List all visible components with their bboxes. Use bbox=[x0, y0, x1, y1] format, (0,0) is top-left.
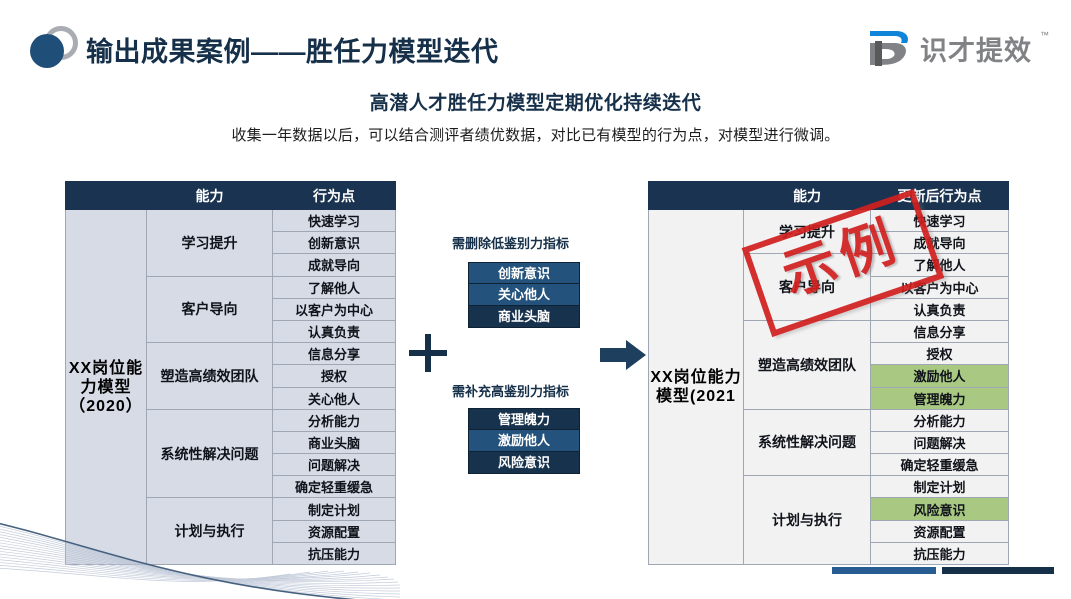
section-subtitle: 高潜人才胜任力模型定期优化持续迭代 bbox=[0, 88, 1071, 115]
remove-indicators-list: 创新意识关心他人商业头脑 bbox=[468, 262, 580, 328]
d-mark-svg bbox=[866, 28, 912, 68]
capability-cell: 系统性解决问题 bbox=[147, 409, 273, 498]
behavior-cell: 分析能力 bbox=[273, 409, 396, 431]
behavior-cell: 授权 bbox=[871, 343, 1009, 365]
capability-cell: 塑造高绩效团队 bbox=[744, 320, 871, 409]
behavior-cell: 认真负责 bbox=[871, 298, 1009, 320]
table-2021-header-model bbox=[649, 182, 744, 210]
accent-bar-dark bbox=[942, 567, 1054, 574]
arrow-right-icon bbox=[600, 340, 646, 370]
table-2020-header-capability: 能力 bbox=[147, 182, 273, 210]
capability-cell: 客户导向 bbox=[744, 254, 871, 321]
behavior-cell: 信息分享 bbox=[871, 320, 1009, 342]
capability-cell: 计划与执行 bbox=[744, 476, 871, 565]
behavior-cell: 创新意识 bbox=[273, 232, 396, 254]
add-indicators-label: 需补充高鉴别力指标 bbox=[452, 381, 569, 400]
behavior-cell: 风险意识 bbox=[871, 498, 1009, 520]
behavior-cell: 商业头脑 bbox=[273, 431, 396, 453]
capability-cell: 系统性解决问题 bbox=[744, 409, 871, 476]
table-2021-head: 能力 更新后行为点 bbox=[649, 182, 1009, 210]
behavior-cell: 成就导向 bbox=[871, 232, 1009, 254]
brand-trademark: ™ bbox=[1040, 30, 1049, 40]
indicator-chip[interactable]: 商业头脑 bbox=[468, 306, 580, 328]
behavior-cell: 分析能力 bbox=[871, 409, 1009, 431]
logo-disc-shape bbox=[30, 34, 64, 68]
behavior-cell: 激励他人 bbox=[871, 365, 1009, 387]
behavior-cell: 以客户为中心 bbox=[871, 276, 1009, 298]
competency-table-2021: 能力 更新后行为点 XX岗位能力模型(2021学习提升快速学习成就导向客户导向了… bbox=[648, 181, 1009, 565]
table-row: XX岗位能力模型(2021学习提升快速学习 bbox=[649, 210, 1009, 232]
behavior-cell: 关心他人 bbox=[273, 387, 396, 409]
behavior-cell: 快速学习 bbox=[273, 210, 396, 232]
behavior-cell: 确定轻重缓急 bbox=[871, 454, 1009, 476]
behavior-cell: 成就导向 bbox=[273, 254, 396, 276]
indicator-chip[interactable]: 激励他人 bbox=[468, 430, 580, 452]
accent-bar-mid bbox=[832, 567, 936, 574]
table-2021-header-row: 能力 更新后行为点 bbox=[649, 182, 1009, 210]
behavior-cell: 问题解决 bbox=[273, 454, 396, 476]
double-circle-logo bbox=[30, 26, 78, 72]
brand-lockup: 识才提效 ™ bbox=[866, 26, 1049, 70]
indicator-chip[interactable]: 风险意识 bbox=[468, 452, 580, 474]
plus-icon-svg bbox=[405, 330, 451, 376]
behavior-cell: 确定轻重缓急 bbox=[273, 476, 396, 498]
plus-icon bbox=[404, 330, 452, 378]
capability-cell: 客户导向 bbox=[147, 276, 273, 343]
behavior-cell: 了解他人 bbox=[273, 276, 396, 298]
behavior-cell: 以客户为中心 bbox=[273, 298, 396, 320]
table-2020-header-model bbox=[66, 182, 147, 210]
behavior-cell: 信息分享 bbox=[273, 343, 396, 365]
indicator-chip[interactable]: 管理魄力 bbox=[468, 408, 580, 430]
wave-decoration bbox=[0, 499, 410, 599]
behavior-cell: 授权 bbox=[273, 365, 396, 387]
behavior-cell: 管理魄力 bbox=[871, 387, 1009, 409]
indicator-chip[interactable]: 创新意识 bbox=[468, 262, 580, 284]
table-2021-header-behavior: 更新后行为点 bbox=[871, 182, 1009, 210]
slide-canvas: 输出成果案例——胜任力模型迭代 识才提效 ™ 高潜人才胜任力模型定期优化持续迭代… bbox=[0, 0, 1071, 599]
remove-indicators-label: 需删除低鉴别力指标 bbox=[452, 233, 569, 252]
capability-cell: 塑造高绩效团队 bbox=[147, 343, 273, 410]
table-row: XX岗位能力模型（2020）学习提升快速学习 bbox=[66, 210, 396, 232]
add-indicators-list: 管理魄力激励他人风险意识 bbox=[468, 408, 580, 474]
table-2021-header-capability: 能力 bbox=[744, 182, 871, 210]
indicator-chip[interactable]: 关心他人 bbox=[468, 284, 580, 306]
behavior-cell: 快速学习 bbox=[871, 210, 1009, 232]
behavior-cell: 制定计划 bbox=[871, 476, 1009, 498]
behavior-cell: 资源配置 bbox=[871, 520, 1009, 542]
table-2020-header-behavior: 行为点 bbox=[273, 182, 396, 210]
wave-decoration-svg bbox=[0, 499, 410, 599]
behavior-cell: 了解他人 bbox=[871, 254, 1009, 276]
table-2020-head: 能力 行为点 bbox=[66, 182, 396, 210]
capability-cell: 学习提升 bbox=[147, 210, 273, 277]
table-2020-header-row: 能力 行为点 bbox=[66, 182, 396, 210]
behavior-cell: 问题解决 bbox=[871, 431, 1009, 453]
page-title: 输出成果案例——胜任力模型迭代 bbox=[86, 30, 499, 69]
model-name-cell: XX岗位能力模型(2021 bbox=[649, 210, 744, 565]
section-description: 收集一年数据以后，可以结合测评者绩优数据，对比已有模型的行为点，对模型进行微调。 bbox=[0, 124, 1071, 145]
behavior-cell: 认真负责 bbox=[273, 320, 396, 342]
table-2021-body: XX岗位能力模型(2021学习提升快速学习成就导向客户导向了解他人以客户为中心认… bbox=[649, 210, 1009, 565]
behavior-cell: 抗压能力 bbox=[871, 542, 1009, 564]
capability-cell: 学习提升 bbox=[744, 210, 871, 254]
d-mark-icon bbox=[866, 28, 912, 68]
brand-name: 识才提效 bbox=[920, 29, 1032, 68]
arrow-right-svg bbox=[600, 340, 646, 370]
